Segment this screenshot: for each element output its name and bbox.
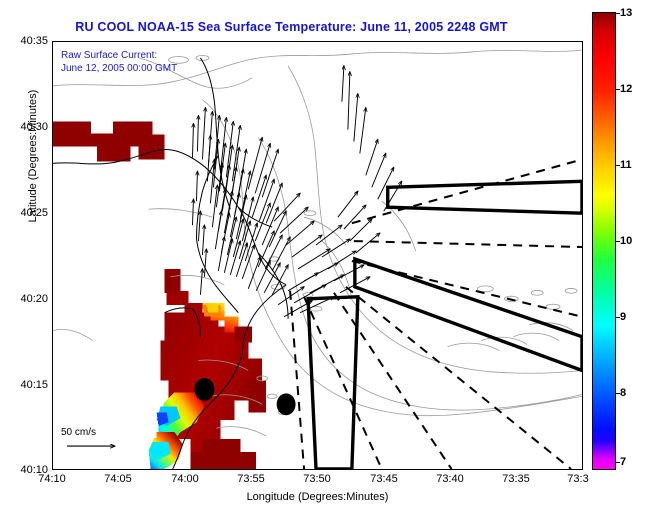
x-tick-4: 73:50	[303, 473, 331, 485]
x-tick-6: 73:40	[436, 473, 464, 485]
map-canvas	[53, 42, 582, 469]
bathymetry-contours	[53, 50, 582, 436]
colorbar-tick-12: 12	[620, 83, 632, 95]
figure-title: RU COOL NOAA-15 Sea Surface Temperature:…	[0, 20, 583, 34]
colorbar-tick-13: 13	[620, 7, 632, 19]
raw-current-line2: June 12, 2005 00:00 GMT	[61, 63, 177, 76]
x-tick-7: 73:35	[502, 473, 530, 485]
colorbar-tick-8: 8	[620, 387, 626, 399]
x-tick-1: 74:05	[104, 473, 132, 485]
x-axis-label: Longitude (Degrees:Minutes)	[52, 491, 583, 503]
station-marker	[277, 393, 296, 415]
y-tick-4: 40:15	[20, 379, 48, 391]
colorbar-tick-9: 9	[620, 311, 626, 323]
colorbar-tick-7: 7	[620, 456, 626, 468]
raw-current-line1: Raw Surface Current:	[61, 50, 177, 63]
scale-bar-label: 50 cm/s	[61, 427, 96, 438]
x-tick-8: 73:3	[567, 473, 588, 485]
y-tick-0: 40:35	[20, 35, 48, 47]
map-plot-area[interactable]: Raw Surface Current: June 12, 2005 00:00…	[52, 41, 583, 470]
colorbar	[592, 12, 616, 470]
sst-field-northwest	[53, 122, 165, 162]
station-marker	[194, 378, 214, 401]
colorbar-tick-11: 11	[620, 159, 632, 171]
y-axis-label: Latitude (Degrees:Minutes)	[27, 51, 39, 261]
y-tick-3: 40:20	[20, 293, 48, 305]
x-tick-3: 73:55	[237, 473, 265, 485]
shipping-lane-boxes	[308, 181, 582, 469]
x-tick-2: 74:00	[171, 473, 199, 485]
x-tick-5: 73:45	[370, 473, 398, 485]
sst-map-figure: RU COOL NOAA-15 Sea Surface Temperature:…	[0, 0, 651, 515]
y-tick-5: 40:10	[20, 464, 48, 476]
sst-field-coastal	[149, 269, 267, 469]
dashed-radial-lines	[290, 159, 582, 469]
colorbar-tick-10: 10	[620, 235, 632, 247]
surface-current-vectors	[192, 66, 401, 317]
raw-current-annotation: Raw Surface Current: June 12, 2005 00:00…	[61, 50, 177, 75]
